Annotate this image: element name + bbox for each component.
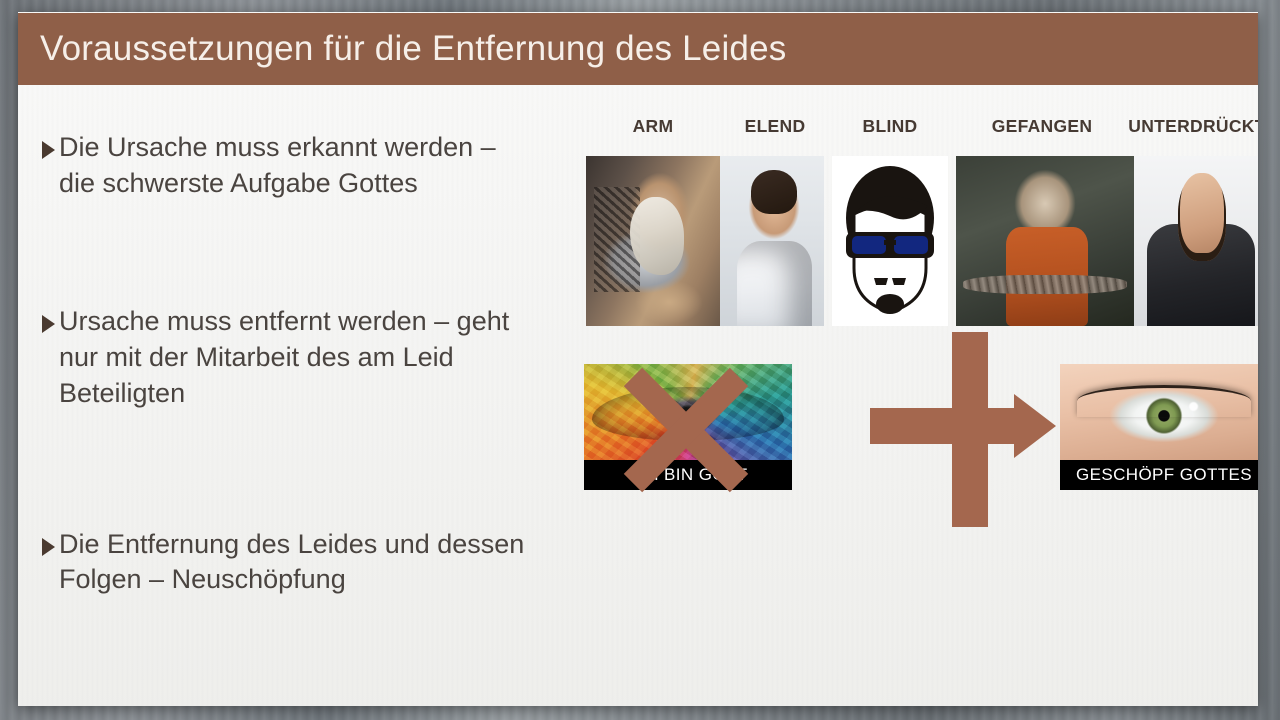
illustration-blind-face-sunglasses xyxy=(832,156,948,326)
bullet-list: Die Ursache muss erkannt werden – die sc… xyxy=(42,130,567,598)
list-item: Die Ursache muss erkannt werden – die sc… xyxy=(42,130,567,202)
cross-arrow-icon xyxy=(870,332,1060,527)
category-label-elend: ELEND xyxy=(745,116,806,137)
list-item: Die Entfernung des Leides und dessen Fol… xyxy=(42,527,567,599)
blind-face-icon xyxy=(832,156,948,326)
category-label-gefangen: GEFANGEN xyxy=(992,116,1093,137)
category-label-arm: ARM xyxy=(633,116,674,137)
cross-horizontal-bar xyxy=(870,408,1020,444)
bullet-text: Die Ursache muss erkannt werden – die sc… xyxy=(59,130,567,202)
category-photo-row xyxy=(584,156,1258,326)
comparison-row: ICH BIN GOTT GESCHÖPF GOTTES xyxy=(584,364,1258,494)
page-title: Voraussetzungen für die Entfernung des L… xyxy=(40,29,786,69)
list-item: Ursache muss entfernt werden – geht nur … xyxy=(42,304,567,412)
bullet-text: Die Entfernung des Leides und dessen Fol… xyxy=(59,527,567,599)
category-label-unterdrueckt: UNTERDRÜCKT xyxy=(1128,116,1258,137)
category-label-row: ARM ELEND BLIND GEFANGEN UNTERDRÜCKT xyxy=(584,116,1258,146)
photo-poor-man-on-ground xyxy=(586,156,720,326)
slide-title-bar: Voraussetzungen für die Entfernung des L… xyxy=(18,13,1258,85)
category-label-blind: BLIND xyxy=(863,116,918,137)
comparison-caption-right: GESCHÖPF GOTTES xyxy=(1060,460,1258,490)
realistic-green-eye-image xyxy=(1060,364,1258,460)
comparison-card-right: GESCHÖPF GOTTES xyxy=(1060,364,1258,490)
photo-chained-prisoner xyxy=(956,156,1134,326)
category-strip: ARM ELEND BLIND GEFANGEN UNTERDRÜCKT xyxy=(584,116,1258,326)
comparison-caption-left: ICH BIN GOTT xyxy=(584,460,792,490)
slide-canvas: Voraussetzungen für die Entfernung des L… xyxy=(18,12,1258,706)
colorful-polygon-eye-image xyxy=(584,364,792,460)
triangle-bullet-icon xyxy=(42,141,55,159)
arrow-head-icon xyxy=(1014,394,1056,458)
presentation-backdrop: Voraussetzungen für die Entfernung des L… xyxy=(0,0,1280,720)
photo-man-covering-face xyxy=(1134,156,1258,326)
bullet-text: Ursache muss entfernt werden – geht nur … xyxy=(59,304,567,412)
triangle-bullet-icon xyxy=(42,538,55,556)
triangle-bullet-icon xyxy=(42,315,55,333)
photo-pensive-man xyxy=(720,156,824,326)
comparison-card-left: ICH BIN GOTT xyxy=(584,364,792,490)
